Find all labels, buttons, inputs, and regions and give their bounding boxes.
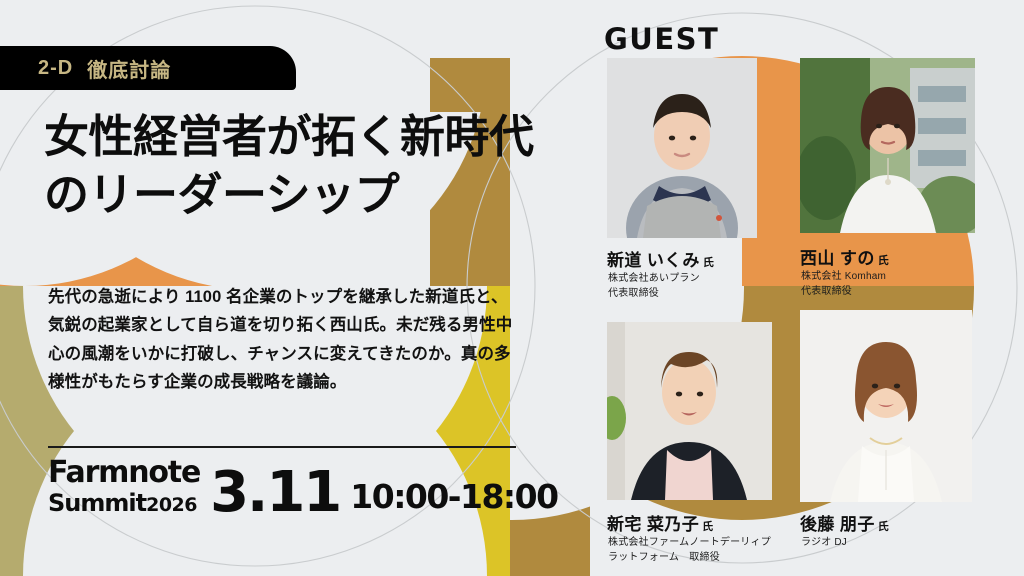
guest-honorific: 氏 (878, 521, 889, 533)
guest-affiliation: 株式会社ファームノートデーリィプ ラットフォーム 取締役 (608, 535, 798, 565)
guest-honorific: 氏 (702, 521, 713, 533)
guest-org: 株式会社ファームノートデーリィプ (608, 535, 798, 550)
guest-photo (607, 58, 757, 238)
event-brand-word: Summit (48, 489, 146, 517)
session-title-line-1: 女性経営者が拓く新時代 (44, 108, 584, 166)
guest-section-heading: GUEST (604, 22, 719, 56)
event-time: 10:00-18:00 (350, 480, 557, 513)
guest-photo (800, 58, 975, 233)
guest-section: GUEST 新道 いくみ氏 株 (600, 0, 1024, 576)
guest-name-text: 新宅 菜乃子 (607, 515, 699, 534)
guest-honorific: 氏 (703, 257, 714, 269)
guest-photo (607, 322, 772, 500)
footer-divider (48, 446, 516, 448)
guest-role: ラットフォーム 取締役 (608, 550, 798, 565)
guest-card[interactable]: 後藤 朋子氏 ラジオ DJ (800, 310, 990, 550)
session-category: 徹底討論 (87, 54, 171, 83)
guest-name: 後藤 朋子氏 (800, 510, 889, 535)
event-logo: Farmnote Summit2026 (48, 458, 200, 515)
session-code: 2-D (38, 57, 73, 80)
event-brand-line-2: Summit2026 (48, 491, 200, 515)
guest-org: ラジオ DJ (801, 535, 991, 550)
left-content-panel: 2-D 徹底討論 女性経営者が拓く新時代 のリーダーシップ 先代の急逝により 1… (0, 0, 600, 576)
guest-name-text: 新道 いくみ (607, 251, 700, 270)
event-footer: Farmnote Summit2026 3.11 10:00-18:00 (48, 458, 558, 515)
guest-org: 株式会社あいプラン (608, 271, 788, 286)
guest-affiliation: 株式会社あいプラン 代表取締役 (608, 271, 788, 301)
guest-affiliation: ラジオ DJ (801, 535, 991, 550)
guest-name: 西山 すの氏 (800, 244, 889, 269)
guest-honorific: 氏 (878, 255, 889, 267)
slide-canvas: 2-D 徹底討論 女性経営者が拓く新時代 のリーダーシップ 先代の急逝により 1… (0, 0, 1024, 576)
guest-role: 代表取締役 (801, 284, 981, 299)
guest-name-text: 後藤 朋子 (800, 515, 875, 534)
event-brand-line-1: Farmnote (48, 458, 200, 488)
guest-name-text: 西山 すの (800, 249, 875, 268)
session-title: 女性経営者が拓く新時代 のリーダーシップ (44, 108, 584, 223)
session-tag-badge: 2-D 徹底討論 (0, 46, 296, 90)
event-date: 3.11 (210, 467, 340, 519)
guest-affiliation: 株式会社 Komham 代表取締役 (801, 269, 981, 299)
guest-role: 代表取締役 (608, 286, 788, 301)
guest-card[interactable]: 西山 すの氏 株式会社 Komham 代表取締役 (800, 58, 990, 288)
guest-card[interactable]: 新道 いくみ氏 株式会社あいプラン 代表取締役 (607, 58, 797, 288)
guest-photo (800, 310, 972, 502)
guest-name: 新宅 菜乃子氏 (607, 510, 714, 535)
guest-name: 新道 いくみ氏 (607, 246, 714, 271)
session-description: 先代の急逝により 1100 名企業のトップを継承した新道氏と、気鋭の起業家として… (48, 283, 518, 397)
guest-card[interactable]: 新宅 菜乃子氏 株式会社ファームノートデーリィプ ラットフォーム 取締役 (607, 322, 797, 562)
event-brand-year: 2026 (146, 494, 197, 516)
guest-org: 株式会社 Komham (801, 269, 981, 284)
session-title-line-2: のリーダーシップ (44, 166, 584, 224)
